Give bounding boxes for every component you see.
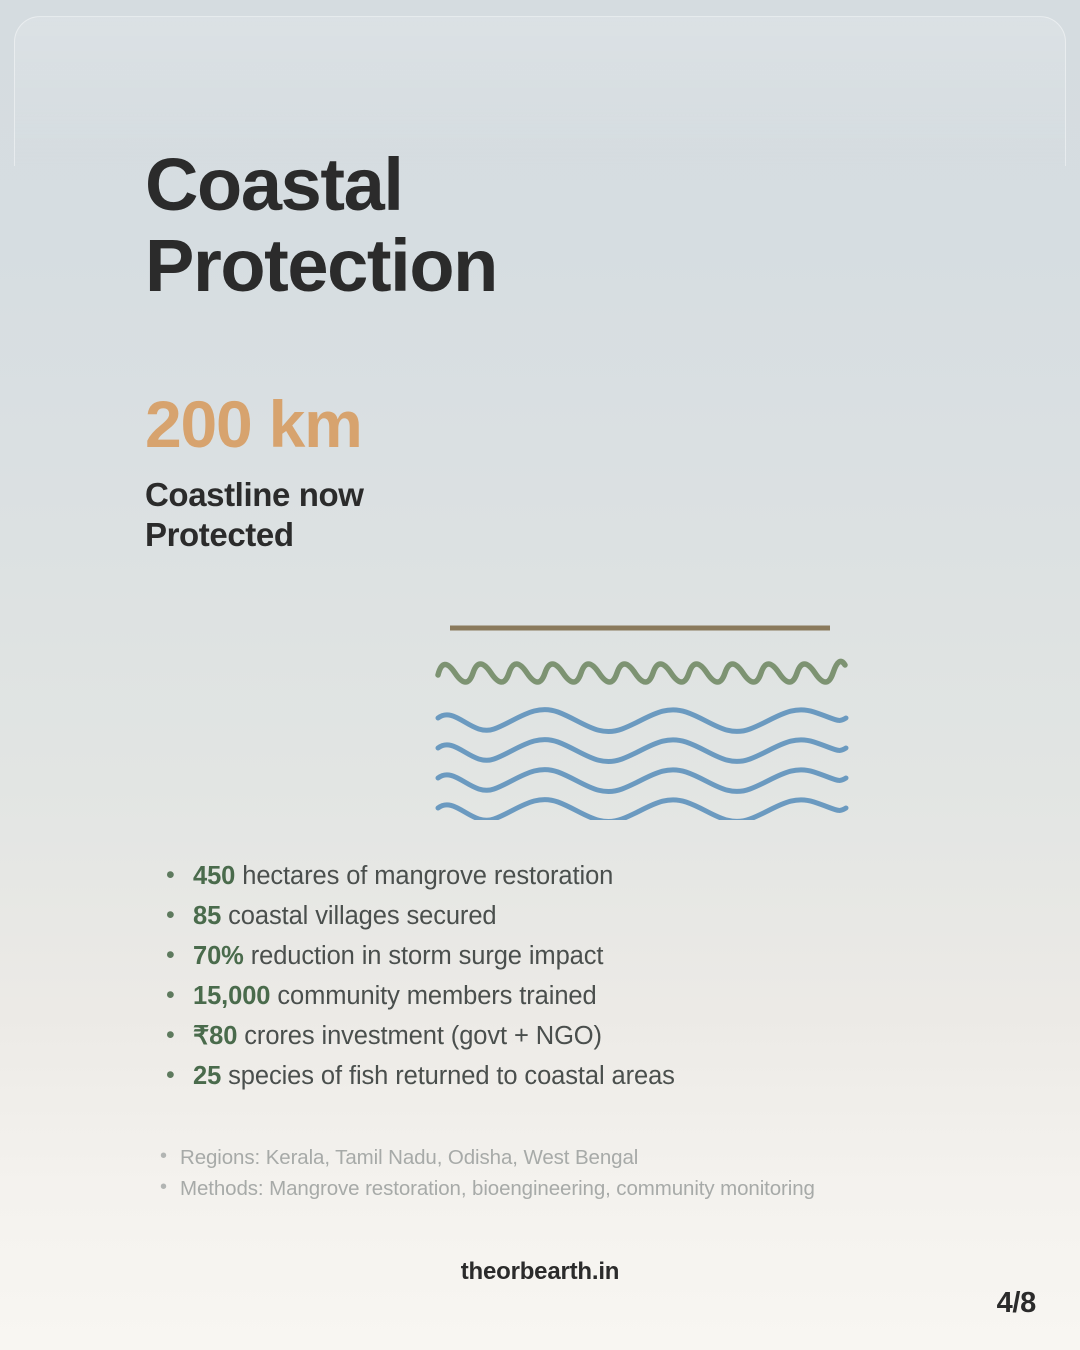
page-title-line-1: Coastal <box>145 144 905 225</box>
stat-value: 200 km <box>145 390 362 459</box>
list-item: Methods: Mangrove restoration, bioengine… <box>158 1173 1038 1204</box>
list-item: ₹80 crores investment (govt + NGO) <box>158 1016 978 1056</box>
bullet-text: species of fish returned to coastal area… <box>221 1062 675 1090</box>
bullet-number: 450 <box>193 862 235 890</box>
list-item: Regions: Kerala, Tamil Nadu, Odisha, Wes… <box>158 1142 1038 1173</box>
stat-label-line-1: Coastline now <box>145 475 665 515</box>
ocean-wave-icon-1 <box>438 710 846 732</box>
list-item: 25 species of fish returned to coastal a… <box>158 1056 978 1096</box>
mangrove-wave-icon <box>438 661 845 682</box>
stats-bullet-list: 450 hectares of mangrove restoration 85 … <box>158 856 978 1096</box>
list-item: 85 coastal villages secured <box>158 896 978 936</box>
page-indicator: 4/8 <box>997 1287 1036 1320</box>
ocean-wave-icon-2 <box>438 740 846 762</box>
slide-canvas: Coastal Protection 200 km Coastline now … <box>0 0 1080 1350</box>
bullet-number: 15,000 <box>193 982 270 1010</box>
bullet-text: crores investment (govt + NGO) <box>237 1022 602 1050</box>
list-item: 450 hectares of mangrove restoration <box>158 856 978 896</box>
ocean-wave-icon-4 <box>438 800 846 820</box>
bullet-number: ₹80 <box>193 1022 237 1050</box>
bullet-text: reduction in storm surge impact <box>244 942 604 970</box>
list-item: 15,000 community members trained <box>158 976 978 1016</box>
meta-list: Regions: Kerala, Tamil Nadu, Odisha, Wes… <box>158 1142 1038 1204</box>
stat-label-line-2: Protected <box>145 515 665 555</box>
bullet-number: 85 <box>193 902 221 930</box>
bullet-text: community members trained <box>270 982 596 1010</box>
bullet-number: 25 <box>193 1062 221 1090</box>
stat-label: Coastline now Protected <box>145 475 665 556</box>
coastal-waves-illustration <box>430 605 870 820</box>
bullet-text: hectares of mangrove restoration <box>235 862 613 890</box>
list-item: 70% reduction in storm surge impact <box>158 936 978 976</box>
page-title: Coastal Protection <box>145 144 905 307</box>
page-title-line-2: Protection <box>145 225 905 306</box>
brand-handle: theorbearth.in <box>0 1258 1080 1286</box>
bullet-text: coastal villages secured <box>221 902 496 930</box>
bullet-number: 70% <box>193 942 244 970</box>
ocean-wave-icon-3 <box>438 770 846 792</box>
